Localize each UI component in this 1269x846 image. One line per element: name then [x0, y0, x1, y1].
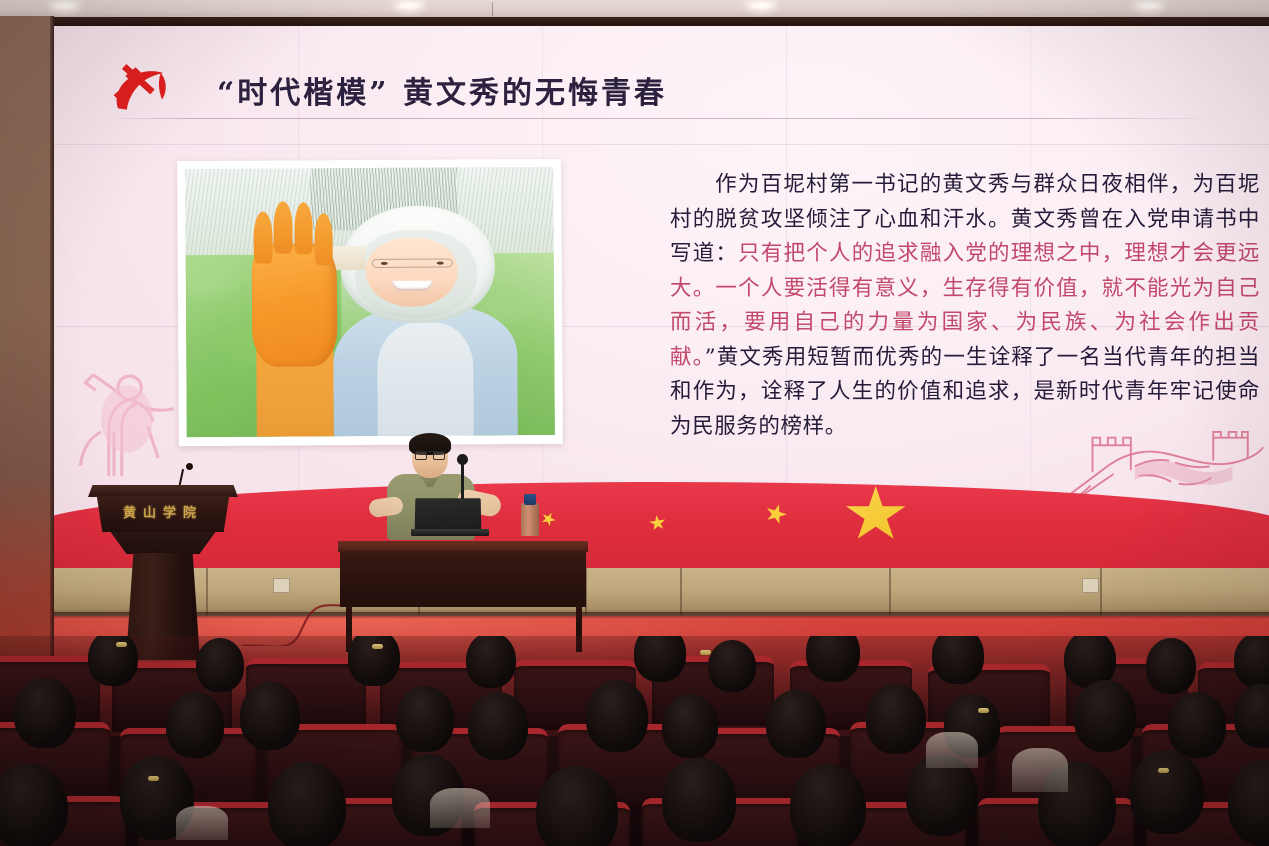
hair-clip	[978, 708, 989, 713]
pink-monument-statue-watermark	[62, 354, 192, 484]
audience-head	[166, 692, 224, 758]
photo-smile	[392, 280, 433, 290]
desk-mic-stem	[461, 460, 464, 502]
podium: 黄山学院	[88, 485, 238, 660]
audience-head	[866, 684, 926, 754]
podium-skirt	[106, 532, 220, 554]
audience-head	[1074, 680, 1136, 752]
water-bottle	[521, 494, 539, 536]
audience-head	[790, 764, 866, 846]
photo-eye-right	[436, 262, 443, 265]
laptop	[415, 498, 482, 532]
audience-head	[1146, 638, 1196, 694]
wood-panel-seam	[1100, 568, 1102, 616]
audience-head	[932, 636, 984, 684]
audience-head	[268, 762, 346, 846]
left-wall-column	[0, 16, 54, 656]
photo-glove-finger	[274, 202, 293, 254]
slide-photo	[177, 159, 563, 446]
led-panel-seam	[54, 144, 1269, 145]
audience-head	[766, 690, 826, 758]
wall-outlet	[1082, 578, 1099, 593]
podium-top-surface	[88, 485, 238, 497]
audience-head	[1168, 692, 1226, 758]
photo-glove-finger	[253, 212, 272, 264]
hair-clip	[148, 776, 159, 781]
wood-panel-seam	[680, 568, 682, 616]
ceiling	[0, 0, 1269, 18]
audience-head	[14, 678, 76, 748]
hair-clip	[116, 642, 127, 647]
glasses-lens-right	[433, 452, 445, 460]
audience-area	[0, 636, 1269, 846]
ceiling-light	[396, 1, 422, 10]
audience-head	[634, 636, 686, 682]
bottle-body	[521, 503, 539, 536]
photo-content	[185, 167, 555, 437]
flag-star-large	[845, 486, 907, 544]
glasses-lens-left	[415, 452, 427, 460]
audience-head	[240, 682, 300, 750]
hair-clip	[700, 650, 711, 655]
audience-head	[662, 758, 736, 842]
ceiling-light	[52, 1, 78, 10]
audience-head	[1234, 636, 1269, 688]
title-divider	[106, 118, 1226, 119]
desk-front-panel	[340, 551, 586, 607]
slide-text-part2: ”黄文秀用短暂而优秀的一生诠释了一名当代青年的担当和作为，诠释了人生的价值和追求…	[670, 345, 1260, 439]
audience-head	[586, 680, 648, 752]
flag-star-small	[539, 509, 559, 528]
audience-shirt	[430, 788, 490, 828]
photo-glove-finger	[314, 214, 333, 266]
flag-star-small	[763, 501, 790, 527]
podium-institution-name: 黄山学院	[94, 502, 232, 521]
audience-head	[1130, 750, 1204, 834]
photo-orange-glove	[252, 243, 337, 367]
audience-shirt	[176, 806, 228, 840]
hair-clip	[372, 644, 383, 649]
slide-title: “时代楷模” 黄文秀的无悔青春	[217, 68, 667, 112]
flag-star-small	[648, 514, 667, 532]
ceiling-light	[748, 1, 774, 10]
audience-head	[396, 686, 454, 752]
podium-mic-head	[186, 463, 193, 470]
audience-shirt	[1012, 748, 1068, 792]
ccp-hammer-sickle-emblem	[102, 54, 178, 120]
audience-head	[88, 636, 138, 686]
bottle-cap	[524, 494, 536, 505]
audience-head	[662, 694, 718, 758]
audience-head	[806, 636, 860, 682]
photo-glove-finger	[294, 203, 313, 255]
audience-head	[466, 636, 516, 688]
audience-head	[468, 692, 528, 760]
ceiling-light	[1136, 1, 1162, 10]
speaker-person	[375, 436, 505, 546]
wood-panel-seam	[889, 568, 891, 616]
left-wall-edge-shadow	[50, 16, 54, 656]
desk-mic-head	[457, 454, 468, 465]
audience-head	[196, 638, 244, 692]
ceiling-seam	[492, 2, 493, 16]
lecture-hall-screenshot: “时代楷模” 黄文秀的无悔青春	[0, 0, 1269, 846]
audience-head	[708, 640, 756, 692]
audience-shirt	[926, 732, 978, 768]
photo-hive-frame	[333, 246, 366, 270]
hair-clip	[1158, 768, 1169, 773]
laptop-keyboard-base	[411, 529, 489, 536]
speaker-glasses	[415, 451, 445, 459]
photo-person-apron	[377, 323, 473, 436]
slide-body-text: 作为百坭村第一书记的黄文秀与群众日夜相伴，为百坭村的脱贫攻坚倾注了心血和汗水。黄…	[670, 168, 1260, 444]
